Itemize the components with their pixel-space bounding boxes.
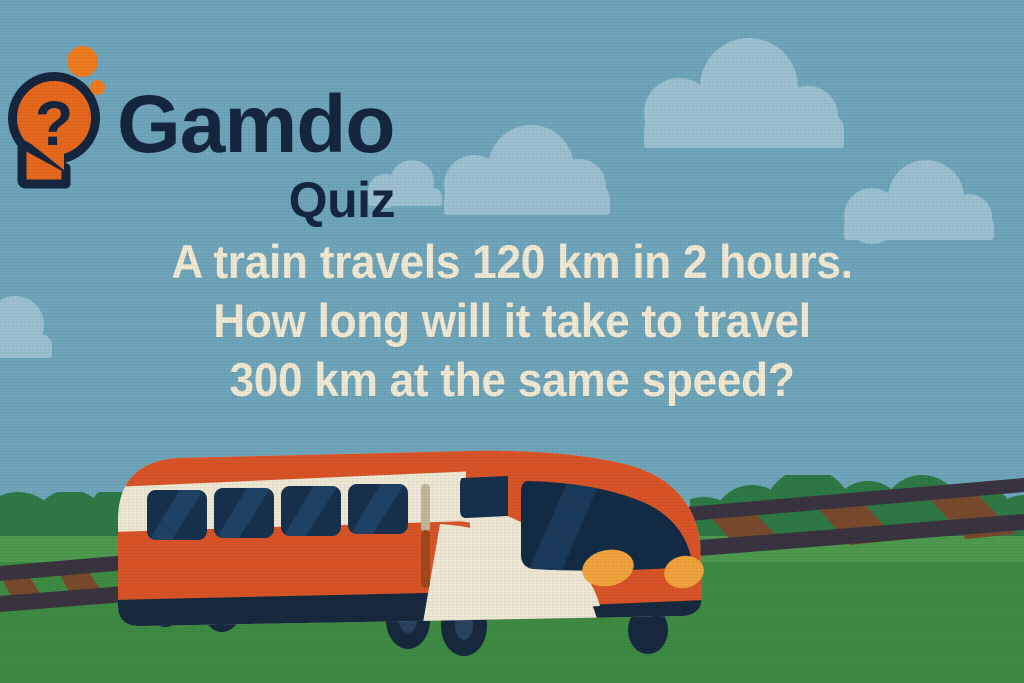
- quiz-card: ? Gamdo Quiz A train travels 120 km in 2…: [0, 0, 1024, 683]
- window: [280, 482, 341, 542]
- window: [347, 480, 408, 540]
- window: [213, 484, 274, 544]
- window: [146, 486, 207, 546]
- train-body: [110, 444, 710, 648]
- high-speed-train-icon: [0, 0, 1024, 683]
- cab-side-window: [460, 476, 508, 518]
- train-door-seam: [421, 484, 430, 588]
